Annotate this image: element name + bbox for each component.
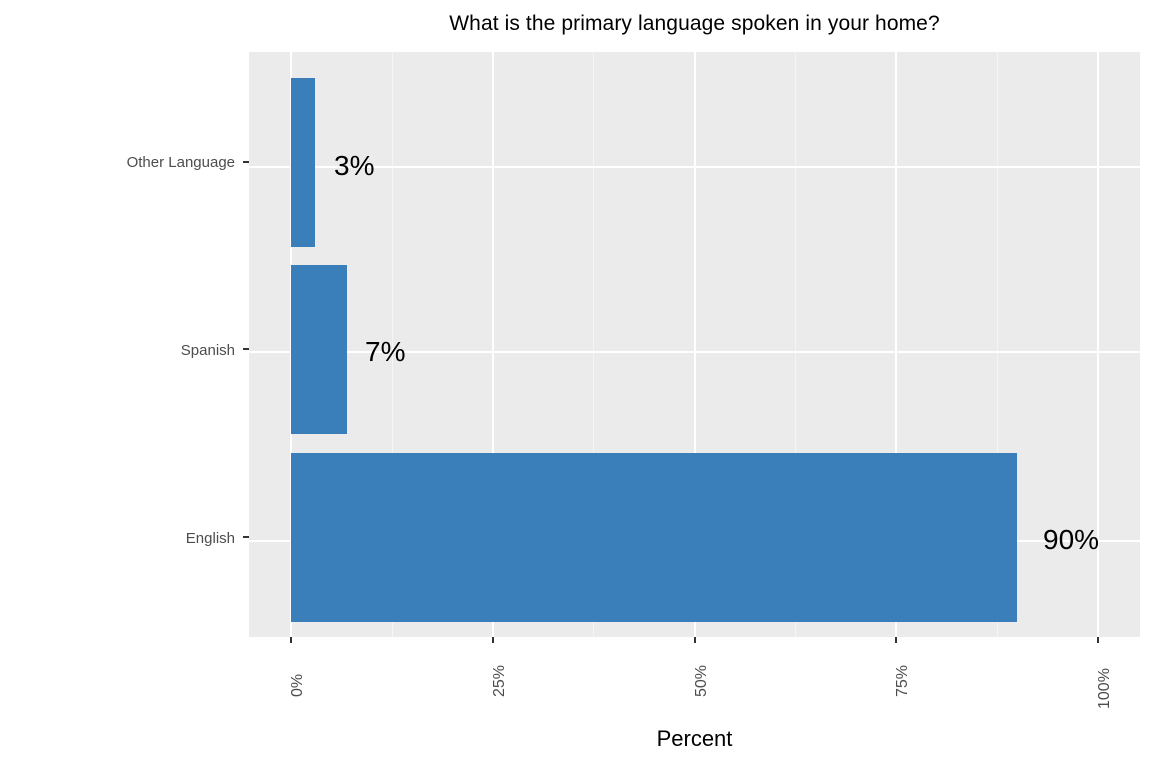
plot-panel: 3% 7% 90% [249, 52, 1140, 637]
chart-title: What is the primary language spoken in y… [249, 12, 1140, 36]
y-axis-tick-mark [243, 536, 249, 538]
bar-other-language[interactable] [291, 78, 315, 247]
y-axis-label-english: English [5, 531, 235, 546]
x-axis-tick-label-75: 75% [895, 665, 911, 697]
x-axis-title: Percent [249, 726, 1140, 752]
x-axis-tick-label-100: 100% [1097, 668, 1113, 709]
y-axis-label-spanish: Spanish [5, 343, 235, 358]
x-axis-tick-mark [895, 637, 897, 643]
gridline-major-horizontal [249, 166, 1140, 168]
bar-spanish[interactable] [291, 265, 347, 434]
x-axis-tick-mark [694, 637, 696, 643]
y-axis-label-other-language: Other Language [5, 155, 235, 170]
x-axis-tick-mark [492, 637, 494, 643]
y-axis-tick-mark [243, 348, 249, 350]
x-axis-tick-mark [1097, 637, 1099, 643]
y-axis-tick-mark [243, 161, 249, 163]
chart-container: What is the primary language spoken in y… [0, 0, 1152, 768]
bar-value-label-english: 90% [1043, 526, 1099, 554]
x-axis-tick-mark [290, 637, 292, 643]
bar-english[interactable] [291, 453, 1017, 622]
x-axis-tick-label-50: 50% [694, 665, 710, 697]
bar-value-label-spanish: 7% [365, 338, 405, 366]
x-axis-tick-label-0: 0% [290, 674, 306, 697]
x-axis-tick-label-25: 25% [492, 665, 508, 697]
bar-value-label-other-language: 3% [334, 152, 374, 180]
